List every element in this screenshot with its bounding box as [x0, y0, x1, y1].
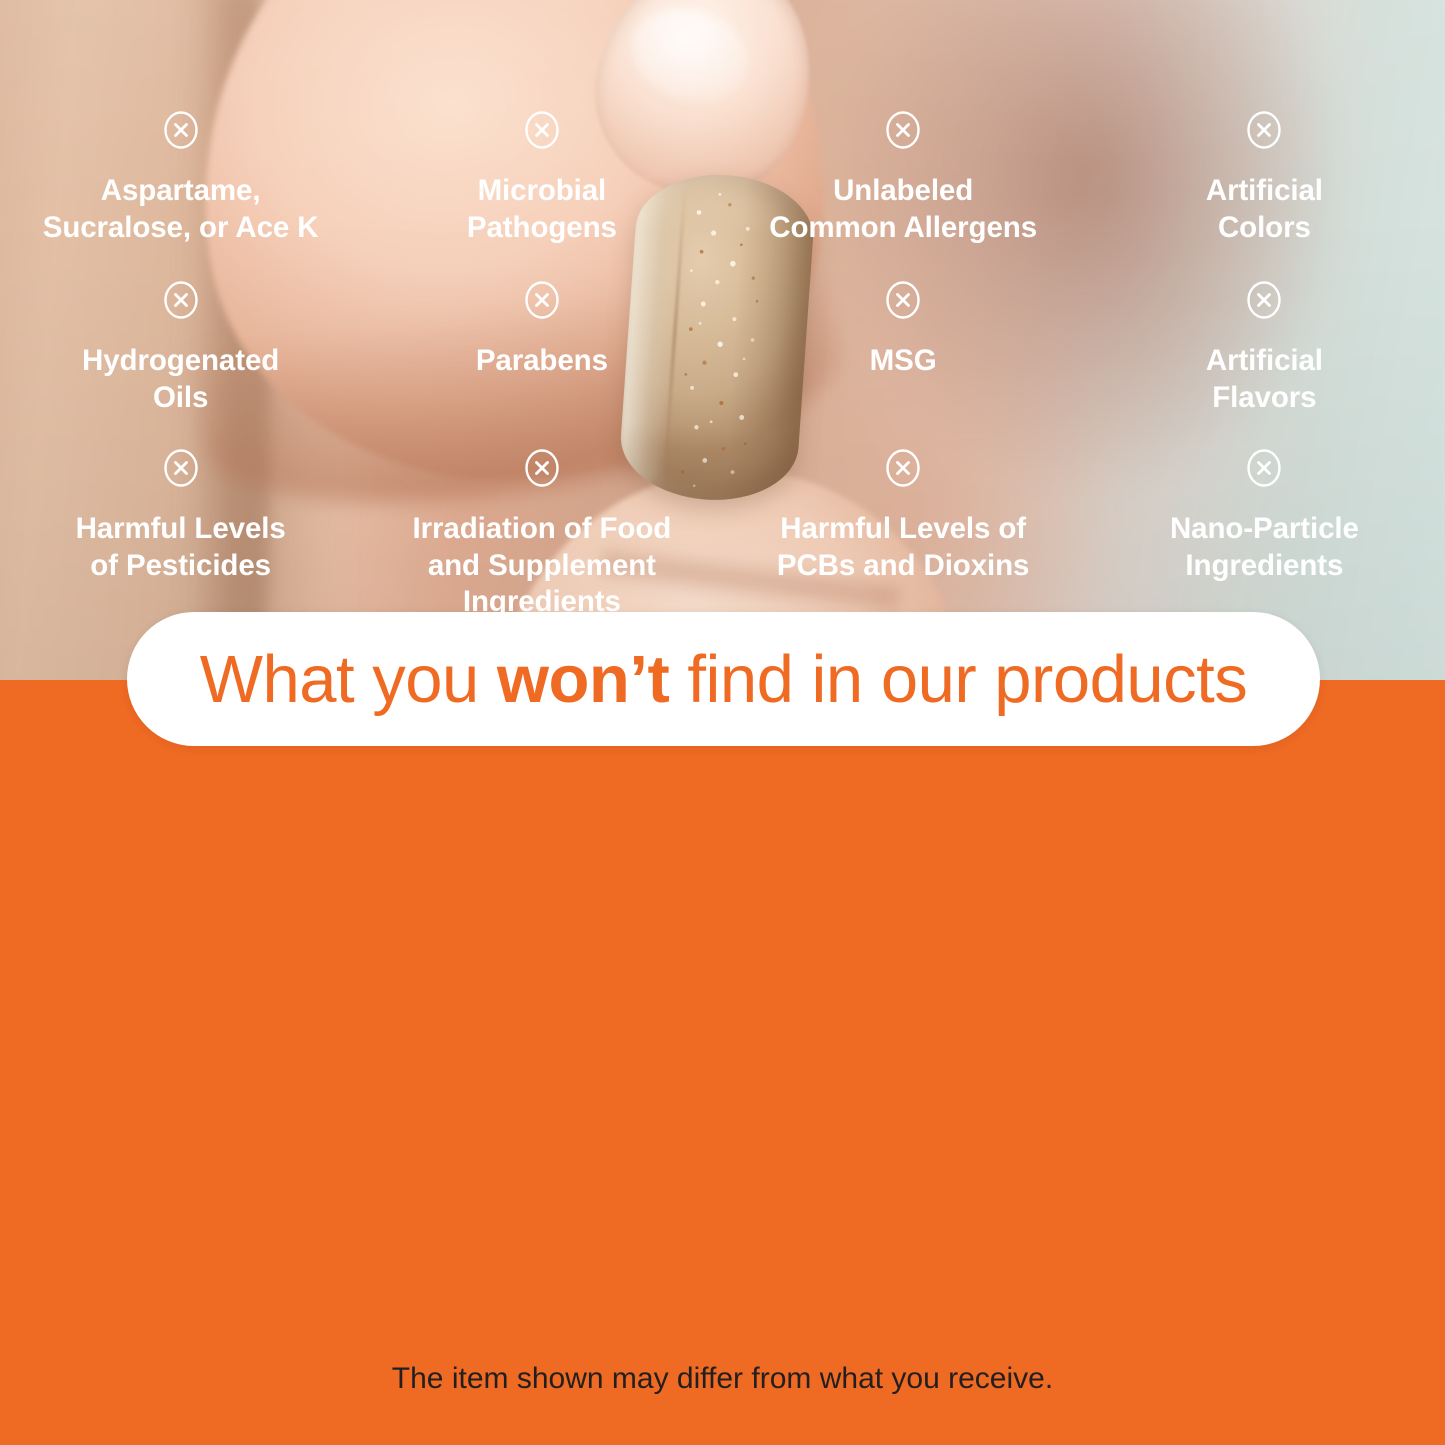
circle-x-icon [885, 110, 921, 150]
exclusion-item: Parabens [361, 280, 722, 448]
circle-x-icon [163, 280, 199, 320]
exclusion-label: Parabens [476, 343, 608, 380]
exclusion-label: Artificial Colors [1206, 173, 1323, 246]
exclusion-label: MSG [870, 343, 937, 380]
exclusion-label: Harmful Levels of Pesticides [76, 511, 286, 584]
exclusion-item: Artificial Flavors [1084, 280, 1445, 448]
circle-x-icon [524, 448, 560, 488]
exclusion-item: Unlabeled Common Allergens [723, 110, 1084, 280]
circle-x-icon [163, 110, 199, 150]
circle-x-icon [885, 448, 921, 488]
exclusion-item: Nano-Particle Ingredients [1084, 448, 1445, 621]
disclaimer-text: The item shown may differ from what you … [0, 1362, 1445, 1396]
exclusion-item: Harmful Levels of PCBs and Dioxins [723, 448, 1084, 621]
exclusion-label: Hydrogenated Oils [82, 343, 279, 416]
exclusion-item: Artificial Colors [1084, 110, 1445, 280]
exclusion-label: Unlabeled Common Allergens [769, 173, 1037, 246]
circle-x-icon [1246, 280, 1282, 320]
circle-x-icon [1246, 110, 1282, 150]
circle-x-icon [885, 280, 921, 320]
exclusion-item: Hydrogenated Oils [0, 280, 361, 448]
circle-x-icon [524, 280, 560, 320]
exclusion-item: Harmful Levels of Pesticides [0, 448, 361, 621]
circle-x-icon [524, 110, 560, 150]
exclusion-item: Aspartame, Sucralose, or Ace K [0, 110, 361, 280]
exclusion-item: Irradiation of Food and Supplement Ingre… [361, 448, 722, 621]
exclusion-label: Aspartame, Sucralose, or Ace K [43, 173, 319, 246]
exclusion-label: Artificial Flavors [1206, 343, 1323, 416]
exclusions-grid-row-3: Harmful Levels of Pesticides Irradiation… [0, 448, 1445, 621]
exclusion-item: Microbial Pathogens [361, 110, 722, 280]
exclusion-label: Microbial Pathogens [467, 173, 617, 246]
exclusion-label: Harmful Levels of PCBs and Dioxins [777, 511, 1029, 584]
title-part-2: find in our products [669, 642, 1247, 717]
product-infographic: What you won’t find in our products Aspa… [0, 0, 1445, 1445]
title-emphasis: won’t [497, 642, 669, 717]
exclusions-panel [0, 680, 1445, 1445]
circle-x-icon [1246, 448, 1282, 488]
exclusion-label: Irradiation of Food and Supplement Ingre… [413, 511, 672, 621]
exclusions-grid-row-2: Hydrogenated Oils Parabens MSG [0, 280, 1445, 448]
circle-x-icon [163, 448, 199, 488]
title-banner: What you won’t find in our products [127, 612, 1320, 746]
exclusions-grid-row-1: Aspartame, Sucralose, or Ace K Microbial… [0, 110, 1445, 280]
title-part-1: What you [200, 642, 497, 717]
exclusion-item: MSG [723, 280, 1084, 448]
page-title: What you won’t find in our products [200, 646, 1248, 713]
exclusion-label: Nano-Particle Ingredients [1170, 511, 1359, 584]
